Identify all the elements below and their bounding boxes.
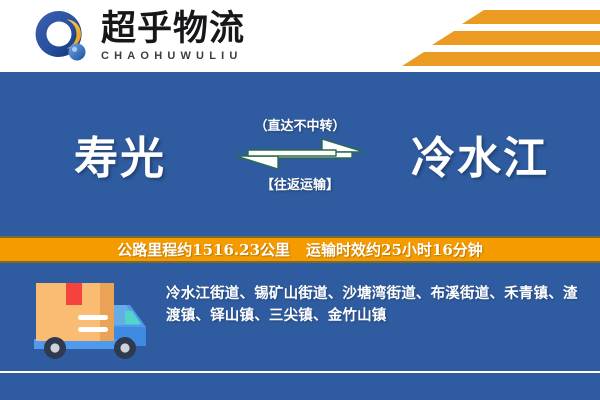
- coverage-panel: 冷水江街道、锡矿山街道、沙塘湾街道、布溪街道、禾青镇、渣渡镇、铎山镇、三尖镇、金…: [0, 263, 600, 372]
- brand-name-en: CHAOHUWULIU: [101, 50, 245, 63]
- stripe-3: [402, 52, 600, 66]
- logistics-banner: 超乎物流 CHAOHUWULIU 寿光 （直达不中转）: [0, 0, 600, 400]
- distance-text: 公路里程约1516.23公里: [117, 239, 290, 260]
- route-panel: 寿光 （直达不中转） 【往返运输】 冷水江: [0, 72, 600, 236]
- duration-text: 运输时效约25小时16分钟: [306, 239, 483, 260]
- coverage-area-list: 冷水江街道、锡矿山街道、沙塘湾街道、布溪街道、禾青镇、渣渡镇、铎山镇、三尖镇、金…: [166, 283, 578, 327]
- direct-route-note: （直达不中转）: [254, 115, 345, 134]
- origin-city: 寿光: [15, 122, 225, 186]
- bidirectional-arrow-icon: [234, 137, 366, 171]
- stripe-1: [462, 10, 600, 24]
- header-stripes: [340, 10, 600, 66]
- brand-wordmark: 超乎物流 CHAOHUWULIU: [101, 10, 245, 63]
- footer-strip: [0, 373, 600, 400]
- route-arrow-block: （直达不中转） 【往返运输】: [225, 115, 375, 193]
- brand-logo: 超乎物流 CHAOHUWULIU: [33, 8, 245, 64]
- route-row: 寿光 （直达不中转） 【往返运输】 冷水江: [0, 72, 600, 236]
- banner-header: 超乎物流 CHAOHUWULIU: [0, 0, 600, 72]
- brand-name-cn: 超乎物流: [101, 10, 245, 48]
- stripe-2: [432, 31, 600, 45]
- roundtrip-note: 【往返运输】: [261, 174, 339, 193]
- route-info-bar: 公路里程约1516.23公里 运输时效约25小时16分钟: [0, 236, 600, 263]
- delivery-truck-icon: [22, 277, 152, 365]
- chaohu-ring-logo-icon: [33, 8, 89, 64]
- destination-city: 冷水江: [375, 122, 585, 186]
